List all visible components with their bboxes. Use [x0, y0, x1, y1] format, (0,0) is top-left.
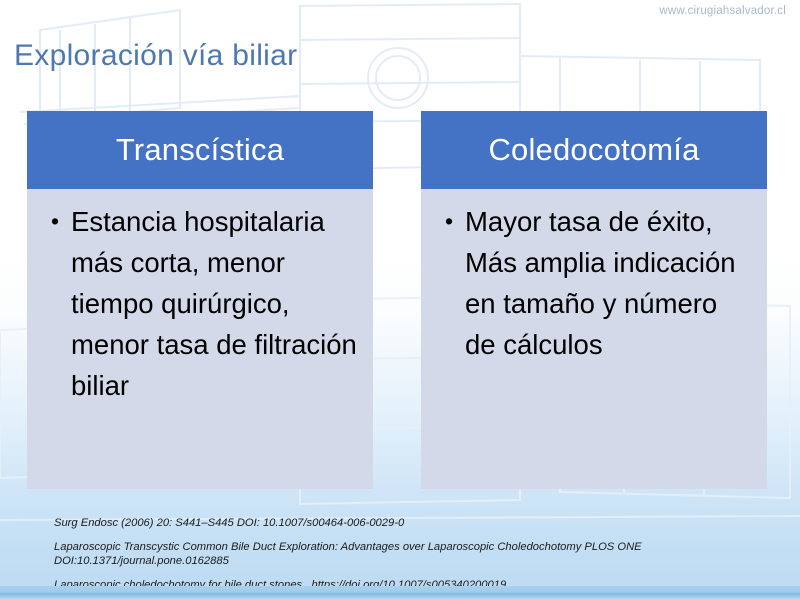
reference-item-2: Laparoscopic Transcystic Common Bile Duc… [54, 540, 754, 569]
table-column-transcistica: Transcística • Estancia hospitalaria más… [27, 111, 373, 489]
list-item: • Estancia hospitalaria más corta, menor… [39, 201, 363, 406]
reference-text: Laparoscopic Transcystic Common Bile Duc… [54, 541, 642, 568]
column-header-transcistica: Transcística [27, 111, 373, 189]
list-item-text: Estancia hospitalaria más corta, menor t… [71, 201, 363, 406]
reference-item-1: Surg Endosc (2006) 20: S441–S445 DOI: 10… [54, 516, 754, 531]
column-header-coledocotomia: Coledocotomía [421, 111, 767, 189]
table-column-coledocotomia: Coledocotomía • Mayor tasa de éxito, Más… [421, 111, 767, 489]
slide-canvas: www.cirugiahsalvador.cl Exploración vía … [0, 0, 800, 600]
column-body-coledocotomia: • Mayor tasa de éxito, Más amplia indica… [421, 189, 767, 489]
bullet-icon: • [433, 201, 465, 242]
bullet-icon: • [39, 201, 71, 242]
reference-text: Surg Endosc (2006) 20: S441–S445 DOI: 10… [54, 517, 404, 529]
column-body-transcistica: • Estancia hospitalaria más corta, menor… [27, 189, 373, 489]
comparison-table: Transcística • Estancia hospitalaria más… [0, 0, 800, 600]
bottom-band [0, 586, 800, 600]
list-item: • Mayor tasa de éxito, Más amplia indica… [433, 201, 757, 365]
list-item-text: Mayor tasa de éxito, Más amplia indicaci… [465, 201, 757, 365]
